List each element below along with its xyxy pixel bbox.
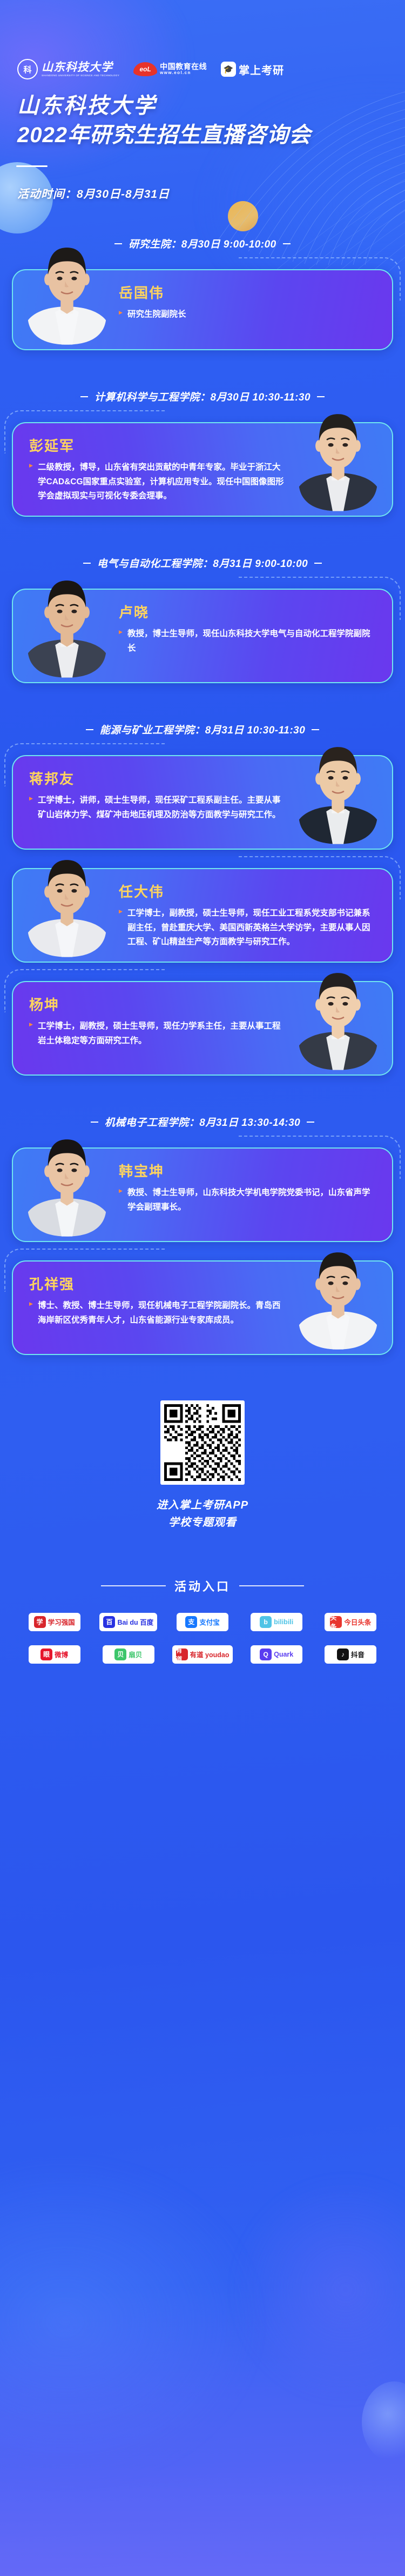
- speaker-bio: 教授、博士生导师，山东科技大学机电学院党委书记，山东省声学学会副理事长。: [119, 1186, 376, 1214]
- douyin-mark-icon: ♪: [337, 1649, 349, 1660]
- speaker-card[interactable]: 彭延军二级教授，博导，山东省有突出贡献的中青年专家。毕业于浙江大学CAD&CG国…: [12, 422, 393, 517]
- speaker-bio: 工学博士，讲师，硕士生导师，现任采矿工程系副主任。主要从事矿山岩体力学、煤矿冲击…: [29, 793, 286, 822]
- douyin-label: 抖音: [351, 1649, 364, 1659]
- section-heading-text: 机械电子工程学院：8月31日 13:30-14:30: [105, 1115, 301, 1129]
- speaker-name: 彭延军: [29, 435, 286, 455]
- speaker-card-wrapper: 卢晓教授，博士生导师，现任山东科技大学电气与自动化工程学院副院长: [12, 589, 393, 683]
- speaker-name: 卢晓: [119, 602, 376, 622]
- speaker-name: 岳国伟: [119, 282, 376, 302]
- header-logo-bar: 科 山东科技大学 SHANDONG UNIVERSITY OF SCIENCE …: [0, 0, 405, 86]
- eol-mark-icon: eoL: [133, 62, 157, 76]
- quark-label: Quark: [274, 1651, 293, 1658]
- baidu-logo[interactable]: 百Bai du 百度: [99, 1613, 157, 1631]
- shanbei-label: 扇贝: [129, 1649, 142, 1659]
- speaker-card[interactable]: 韩宝坤教授、博士生导师，山东科技大学机电学院党委书记，山东省声学学会副理事长。: [12, 1147, 393, 1242]
- section-heading-text: 能源与矿业工程学院：8月31日 10:30-11:30: [100, 722, 306, 737]
- portrait-han-baokun: [22, 1123, 112, 1241]
- eol-logo-cn: 中国教育在线: [160, 63, 207, 71]
- bilibili-logo[interactable]: bbilibili: [251, 1613, 302, 1631]
- qr-code[interactable]: [160, 1400, 245, 1485]
- speaker-name: 杨坤: [29, 994, 286, 1014]
- entry-section-header: 活动入口: [0, 1577, 405, 1594]
- speaker-card-wrapper: 蒋邦友工学博士，讲师，硕士生导师，现任采矿工程系副主任。主要从事矿山岩体力学、煤…: [12, 755, 393, 850]
- entry-section-title: 活动入口: [174, 1577, 231, 1594]
- alipay-label: 支付宝: [199, 1617, 220, 1627]
- xuexiqiangguo-logo[interactable]: 学学习强国: [29, 1613, 80, 1631]
- xuexiqiangguo-mark-icon: 学: [34, 1616, 46, 1628]
- speaker-name: 任大伟: [119, 881, 376, 901]
- baidu-mark-icon: 百: [103, 1616, 115, 1628]
- speaker-card-wrapper: 任大伟工学博士，副教授，硕士生导师，现任工业工程系党支部书记兼系副主任，曾赴重庆…: [12, 868, 393, 963]
- speaker-card-wrapper: 彭延军二级教授，博导，山东省有突出贡献的中青年专家。毕业于浙江大学CAD&CG国…: [12, 422, 393, 517]
- jinritoutiao-label: 今日头条: [344, 1617, 371, 1627]
- portrait-kong-xiangqiang: [293, 1236, 383, 1354]
- section-dash-right: [307, 1122, 314, 1123]
- sdust-seal-icon: 科: [17, 59, 38, 79]
- weibo-label: 微博: [55, 1649, 68, 1659]
- section-dash-right: [317, 396, 325, 397]
- weibo-logo[interactable]: 眼微博: [29, 1645, 80, 1664]
- eol-logo-en: www.eol.cn: [160, 71, 207, 75]
- sdust-seal-glyph: 科: [23, 64, 31, 75]
- section-dash-left: [86, 729, 93, 730]
- speaker-card[interactable]: 杨坤工学博士，副教授，硕士生导师，现任力学系主任，主要从事工程岩土体稳定等方面研…: [12, 981, 393, 1076]
- entry-logo-grid: 学学习强国百Bai du 百度支支付宝bbilibili头条今日头条眼微博贝扇贝…: [0, 1594, 405, 1664]
- weibo-mark-icon: 眼: [40, 1649, 52, 1660]
- zskr-badge-glyph: 🎓: [224, 64, 234, 74]
- section-heading-text: 计算机科学与工程学院：8月30日 10:30-11:30: [94, 389, 310, 404]
- speaker-bio: 博士、教授、博士生导师，现任机械电子工程学院副院长。青岛西海岸新区优秀青年人才，…: [29, 1299, 286, 1327]
- speaker-bio: 二级教授，博导，山东省有突出贡献的中青年专家。毕业于浙江大学CAD&CG国家重点…: [29, 461, 286, 504]
- speaker-card[interactable]: 岳国伟研究生院副院长: [12, 269, 393, 350]
- douyin-logo[interactable]: ♪抖音: [325, 1645, 376, 1664]
- speaker-card[interactable]: 卢晓教授，博士生导师，现任山东科技大学电气与自动化工程学院副院长: [12, 589, 393, 683]
- speaker-name: 蒋邦友: [29, 768, 286, 788]
- entry-divider-left: [101, 1585, 166, 1586]
- bilibili-mark-icon: b: [260, 1616, 272, 1628]
- sdust-logo: 科 山东科技大学 SHANDONG UNIVERSITY OF SCIENCE …: [17, 59, 119, 79]
- sdust-logo-en: SHANDONG UNIVERSITY OF SCIENCE AND TECHN…: [42, 75, 119, 77]
- speaker-card[interactable]: 孔祥强博士、教授、博士生导师，现任机械电子工程学院副院长。青岛西海岸新区优秀青年…: [12, 1260, 393, 1355]
- title-divider: [16, 165, 48, 167]
- portrait-peng-yanjun: [293, 398, 383, 516]
- sdust-logo-cn: 山东科技大学: [42, 62, 119, 73]
- qr-code-image: [164, 1404, 241, 1481]
- shanbei-mark-icon: 贝: [114, 1649, 126, 1660]
- jinritoutiao-mark-icon: 头条: [330, 1616, 342, 1628]
- youdao-mark-icon: 有道: [176, 1649, 188, 1660]
- speaker-card-wrapper: 孔祥强博士、教授、博士生导师，现任机械电子工程学院副院长。青岛西海岸新区优秀青年…: [12, 1260, 393, 1355]
- speaker-card-wrapper: 岳国伟研究生院副院长: [12, 269, 393, 350]
- baidu-label: Bai du 百度: [117, 1617, 153, 1627]
- section-heading-text: 研究生院：8月30日 9:00-10:00: [129, 236, 276, 251]
- speaker-bio: 研究生院副院长: [119, 308, 376, 322]
- speaker-bio: 教授，博士生导师，现任山东科技大学电气与自动化工程学院副院长: [119, 627, 376, 656]
- speaker-card-wrapper: 韩宝坤教授、博士生导师，山东科技大学机电学院党委书记，山东省声学学会副理事长。: [12, 1147, 393, 1242]
- shanbei-logo[interactable]: 贝扇贝: [103, 1645, 154, 1664]
- jinritoutiao-logo[interactable]: 头条今日头条: [325, 1613, 376, 1631]
- alipay-logo[interactable]: 支支付宝: [177, 1613, 228, 1631]
- quark-mark-icon: Q: [260, 1649, 272, 1660]
- speaker-bio: 工学博士，副教授，硕士生导师，现任力学系主任，主要从事工程岩土体稳定等方面研究工…: [29, 1019, 286, 1048]
- portrait-yang-kun: [293, 957, 383, 1075]
- alipay-mark-icon: 支: [185, 1616, 197, 1628]
- section-dash-left: [91, 1122, 98, 1123]
- youdao-label: 有道 youdao: [190, 1649, 230, 1659]
- entry-divider-right: [239, 1585, 304, 1586]
- qr-zone: 进入掌上考研APP 学校专题观看: [0, 1400, 405, 1532]
- youdao-logo[interactable]: 有道有道 youdao: [172, 1645, 233, 1664]
- activity-time: 活动时间：8月30日-8月31日: [17, 185, 405, 202]
- section-dash-right: [314, 563, 322, 564]
- section-dash-left: [114, 243, 122, 244]
- bilibili-label: bilibili: [274, 1618, 293, 1626]
- speaker-card[interactable]: 任大伟工学博士，副教授，硕士生导师，现任工业工程系党支部书记兼系副主任，曾赴重庆…: [12, 868, 393, 963]
- speaker-name: 韩宝坤: [119, 1160, 376, 1180]
- background-bottom-glow: [0, 2295, 405, 2576]
- section-heading-text: 电气与自动化工程学院：8月31日 9:00-10:00: [97, 556, 308, 570]
- eol-logo: eoL 中国教育在线 www.eol.cn: [133, 62, 207, 76]
- speaker-bio: 工学博士，副教授，硕士生导师，现任工业工程系党支部书记兼系副主任，曾赴重庆大学、…: [119, 906, 376, 950]
- xuexiqiangguo-label: 学习强国: [48, 1617, 75, 1627]
- quark-logo[interactable]: QQuark: [251, 1645, 302, 1664]
- portrait-yue-guowei: [22, 231, 112, 349]
- title-event: 2022年研究生招生直播咨询会: [17, 123, 405, 147]
- title-university: 山东科技大学: [17, 94, 405, 118]
- zhangshangkaoyan-logo: 🎓 掌上考研: [221, 62, 284, 77]
- portrait-ren-dawei: [22, 844, 112, 962]
- speaker-card-wrapper: 杨坤工学博士，副教授，硕士生导师，现任力学系主任，主要从事工程岩土体稳定等方面研…: [12, 981, 393, 1076]
- speaker-name: 孔祥强: [29, 1273, 286, 1293]
- portrait-jiang-bangyou: [293, 731, 383, 849]
- qr-caption-line1: 进入掌上考研APP: [0, 1497, 405, 1514]
- portrait-lu-xiao: [22, 564, 112, 682]
- section-dash-left: [80, 396, 88, 397]
- speaker-card[interactable]: 蒋邦友工学博士，讲师，硕士生导师，现任采矿工程系副主任。主要从事矿山岩体力学、煤…: [12, 755, 393, 850]
- zhangshangkaoyan-logo-cn: 掌上考研: [239, 62, 284, 77]
- graduation-cap-icon: 🎓: [221, 62, 236, 77]
- section-dash-right: [283, 243, 291, 244]
- section-dash-right: [312, 729, 319, 730]
- section-dash-left: [83, 563, 91, 564]
- qr-caption-line2: 学校专题观看: [0, 1514, 405, 1531]
- poster-title: 山东科技大学 2022年研究生招生直播咨询会: [0, 86, 405, 147]
